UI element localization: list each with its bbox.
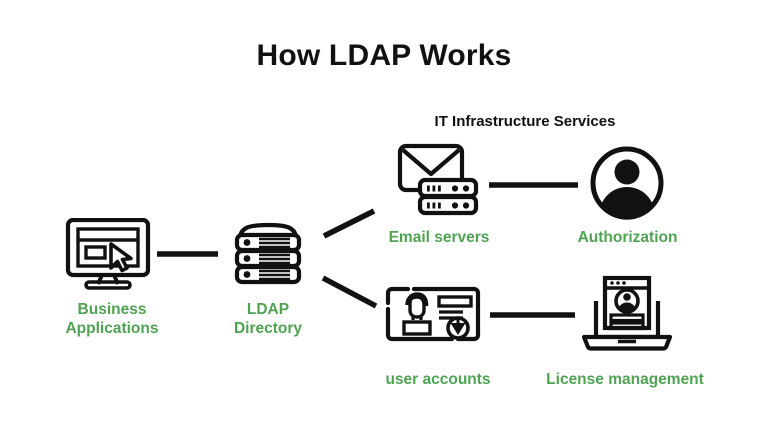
user-circle-icon (589, 145, 665, 221)
node-authorization[interactable] (589, 145, 665, 221)
label-user-accounts: user accounts (366, 370, 510, 389)
label-email-servers: Email servers (368, 228, 510, 247)
node-user-accounts[interactable] (384, 285, 482, 357)
connector-ldap-to-email (324, 211, 374, 236)
label-ldap-directory: LDAP Directory (218, 300, 318, 338)
label-business-applications: Business Applications (42, 300, 182, 338)
laptop-profile-icon (578, 275, 676, 357)
id-card-icon (384, 285, 482, 357)
envelope-server-icon (396, 142, 480, 220)
connector-ldap-to-user-accounts (323, 278, 376, 306)
node-email-servers[interactable] (396, 142, 480, 220)
node-business-applications[interactable] (62, 218, 162, 290)
server-stack-icon (228, 222, 308, 286)
monitor-cursor-icon (62, 218, 162, 290)
node-ldap-directory[interactable] (228, 222, 308, 286)
label-license-management: License management (530, 370, 720, 389)
node-license-management[interactable] (578, 275, 676, 357)
label-authorization: Authorization (555, 228, 700, 247)
